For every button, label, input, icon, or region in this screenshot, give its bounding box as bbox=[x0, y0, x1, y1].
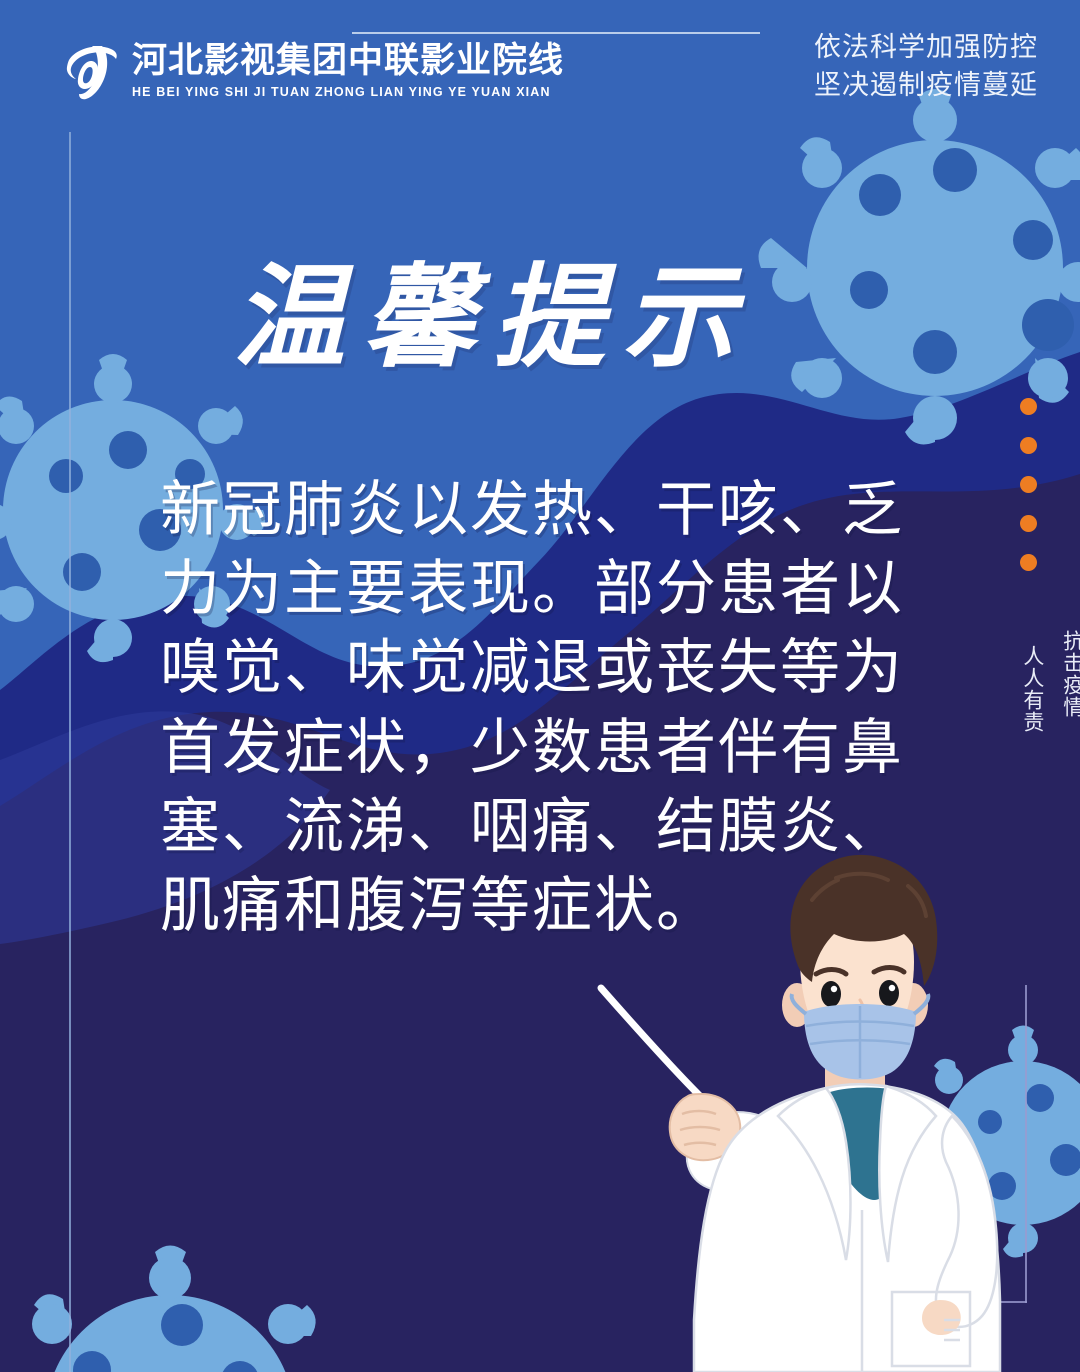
slogan-line-1: 依法科学加强防控 bbox=[814, 28, 1038, 66]
poster-root: 河北影视集团中联影业院线 HE BEI YING SHI JI TUAN ZHO… bbox=[0, 0, 1080, 1372]
doctor-eye-right bbox=[879, 980, 899, 1006]
doctor-eye-left bbox=[821, 981, 841, 1007]
doctor-eye-highlight bbox=[889, 985, 895, 991]
brand-logo-text: 河北影视集团中联影业院线 HE BEI YING SHI JI TUAN ZHO… bbox=[132, 43, 564, 99]
doctor-eye-highlight bbox=[831, 986, 837, 992]
poster-header: 河北影视集团中联影业院线 HE BEI YING SHI JI TUAN ZHO… bbox=[0, 0, 1080, 125]
brand-logo: 河北影视集团中联影业院线 HE BEI YING SHI JI TUAN ZHO… bbox=[62, 40, 564, 102]
pointer-stick-icon bbox=[601, 988, 700, 1096]
brand-name-en: HE BEI YING SHI JI TUAN ZHONG LIAN YING … bbox=[132, 85, 564, 99]
doctor-illustration bbox=[0, 0, 1080, 1372]
header-slogan: 依法科学加强防控 坚决遏制疫情蔓延 bbox=[814, 28, 1038, 105]
header-divider-line bbox=[352, 32, 760, 34]
slogan-line-2: 坚决遏制疫情蔓延 bbox=[814, 66, 1038, 104]
swoosh-logo-icon bbox=[62, 40, 120, 102]
brand-name-cn: 河北影视集团中联影业院线 bbox=[132, 43, 564, 80]
